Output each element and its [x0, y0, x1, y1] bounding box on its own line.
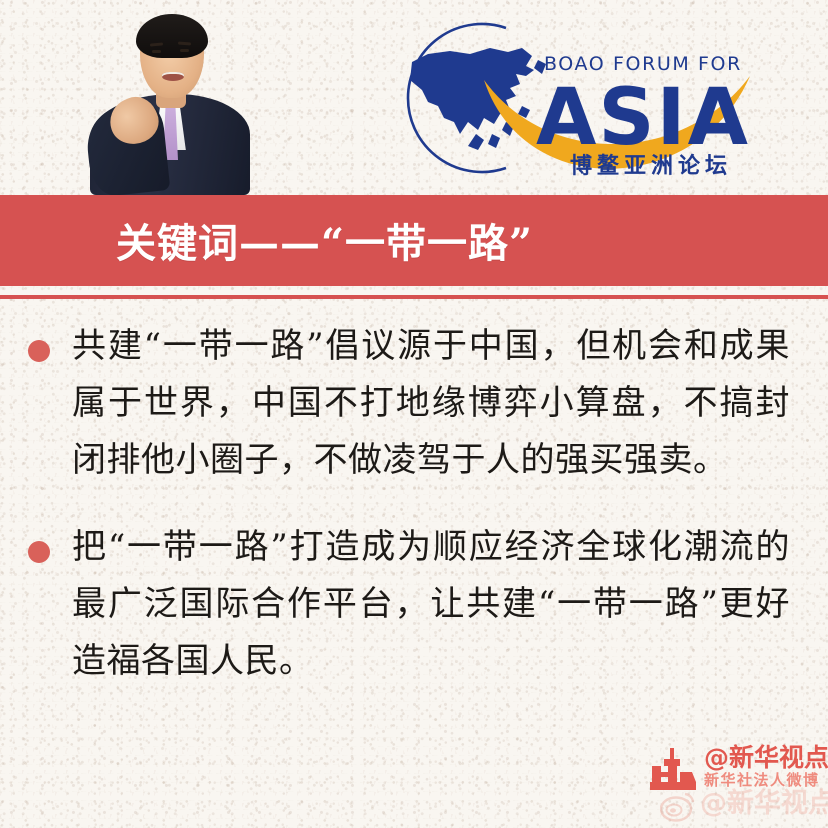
- xinhua-branding: @新华视点 新华社法人微博: [648, 744, 820, 794]
- bullet-list: 共建“一带一路”倡议源于中国，但机会和成果属于世界，中国不打地缘博弈小算盘，不搞…: [0, 318, 828, 720]
- weibo-watermark: @新华视点: [660, 788, 828, 828]
- bullet-item: 把“一带一路”打造成为顺应经济全球化潮流的最广泛国际合作平台，让共建“一带一路”…: [0, 519, 828, 690]
- boao-forum-for-asia-logo: BOAO FORUM FOR ASIA 博鳌亚洲论坛: [398, 18, 758, 178]
- svg-text:博鳌亚洲论坛: 博鳌亚洲论坛: [570, 153, 732, 178]
- svg-text:ASIA: ASIA: [536, 73, 750, 163]
- svg-text:BOAO FORUM FOR: BOAO FORUM FOR: [544, 53, 742, 75]
- xinhua-brand-text: @新华视点 新华社法人微博: [704, 744, 820, 789]
- bullet-dot-icon: [28, 340, 50, 362]
- portrait-hair: [136, 14, 208, 58]
- bullet-item: 共建“一带一路”倡议源于中国，但机会和成果属于世界，中国不打地缘博弈小算盘，不搞…: [0, 318, 828, 489]
- xinhua-viewpoint-mark-icon: [648, 746, 700, 792]
- speaker-portrait: [88, 2, 252, 195]
- portrait-mouth: [162, 72, 184, 81]
- banner-title: 关键词——“一带一路”: [116, 211, 533, 269]
- weibo-eye-icon: [660, 790, 696, 822]
- portrait-eye-left: [152, 50, 161, 53]
- bullet-paragraph: 把“一带一路”打造成为顺应经济全球化潮流的最广泛国际合作平台，让共建“一带一路”…: [72, 519, 790, 690]
- poster-root: BOAO FORUM FOR ASIA 博鳌亚洲论坛 关键词——“一带一路” 共…: [0, 0, 828, 828]
- xinhua-account-subtitle: 新华社法人微博: [704, 772, 820, 789]
- weibo-watermark-text: @新华视点: [700, 788, 828, 820]
- bullet-dot-icon: [28, 541, 50, 563]
- poster-header: BOAO FORUM FOR ASIA 博鳌亚洲论坛: [0, 0, 828, 195]
- xinhua-account-name: @新华视点: [704, 744, 820, 771]
- keyword-banner: 关键词——“一带一路”: [0, 195, 828, 286]
- portrait-eye-right: [180, 49, 189, 52]
- bullet-paragraph: 共建“一带一路”倡议源于中国，但机会和成果属于世界，中国不打地缘博弈小算盘，不搞…: [72, 318, 790, 489]
- banner-underline-rule: [0, 295, 828, 299]
